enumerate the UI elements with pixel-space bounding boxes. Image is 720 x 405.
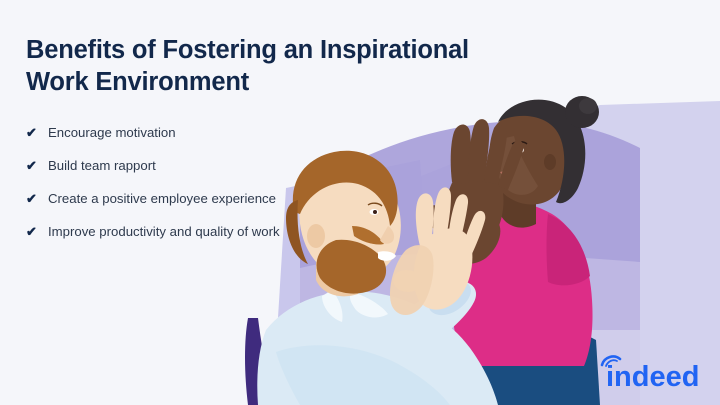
checkmark-icon: ✔: [26, 190, 48, 208]
checkmark-icon: ✔: [26, 124, 48, 142]
woman-hair-bun-highlight: [579, 98, 597, 114]
list-item: ✔ Create a positive employee experience: [26, 190, 286, 208]
indeed-logo-svg: indeed: [600, 355, 704, 391]
list-item-label: Create a positive employee experience: [48, 190, 276, 207]
list-item-label: Improve productivity and quality of work: [48, 223, 280, 240]
checkmark-icon: ✔: [26, 157, 48, 175]
list-item: ✔ Build team rapport: [26, 157, 286, 175]
list-item-label: Encourage motivation: [48, 124, 176, 141]
woman-ear: [544, 154, 556, 170]
slide-canvas: Benefits of Fostering an Inspirational W…: [0, 0, 720, 405]
indeed-logo[interactable]: indeed: [600, 355, 704, 391]
indeed-wordmark: indeed: [606, 361, 699, 391]
text-column: Benefits of Fostering an Inspirational W…: [26, 34, 326, 241]
woman-finger-index: [451, 125, 471, 185]
man-eye-pupil: [373, 210, 377, 214]
benefits-list: ✔ Encourage motivation ✔ Build team rapp…: [26, 124, 286, 241]
checkmark-icon: ✔: [26, 223, 48, 241]
page-title: Benefits of Fostering an Inspirational W…: [26, 34, 506, 98]
list-item: ✔ Improve productivity and quality of wo…: [26, 223, 286, 241]
list-item: ✔ Encourage motivation: [26, 124, 286, 142]
list-item-label: Build team rapport: [48, 157, 156, 174]
